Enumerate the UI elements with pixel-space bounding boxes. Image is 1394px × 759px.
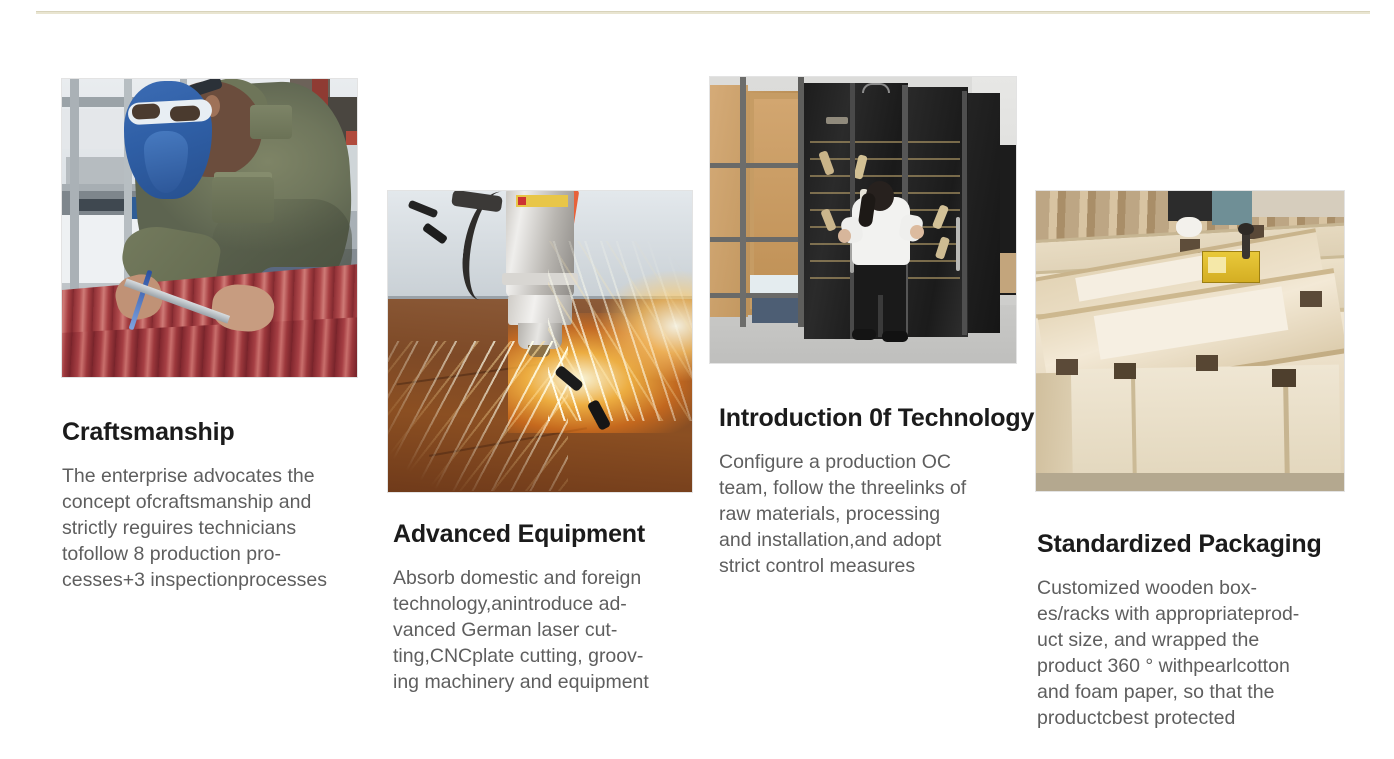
advanced-equipment-photo	[387, 190, 693, 493]
top-divider-rule	[36, 11, 1370, 14]
card-body-introduction-of-technology: Configure a production OC team, follow t…	[719, 449, 1019, 579]
card-body-craftsmanship: The enterprise advocates the concept ofc…	[62, 463, 362, 593]
craftsmanship-photo	[61, 78, 358, 378]
card-title-standardized-packaging: Standardized Packaging	[1037, 530, 1322, 559]
card-title-introduction-of-technology: Introduction 0f Technology	[719, 404, 1034, 433]
feature-card-standardized-packaging: Standardized Packaging Customized wooden…	[1035, 190, 1350, 492]
feature-card-advanced-equipment: Advanced Equipment Absorb domestic and f…	[387, 190, 697, 493]
card-title-craftsmanship: Craftsmanship	[62, 418, 234, 447]
standardized-packaging-photo	[1035, 190, 1345, 492]
feature-card-introduction-of-technology: Introduction 0f Technology Configure a p…	[709, 76, 1024, 364]
introduction-of-technology-photo	[709, 76, 1017, 364]
card-title-advanced-equipment: Advanced Equipment	[393, 520, 645, 549]
feature-card-craftsmanship: Craftsmanship The enterprise advocates t…	[61, 78, 371, 378]
card-body-advanced-equipment: Absorb domestic and foreign technology,a…	[393, 565, 693, 695]
card-body-standardized-packaging: Customized wooden box- es/racks with app…	[1037, 575, 1347, 731]
